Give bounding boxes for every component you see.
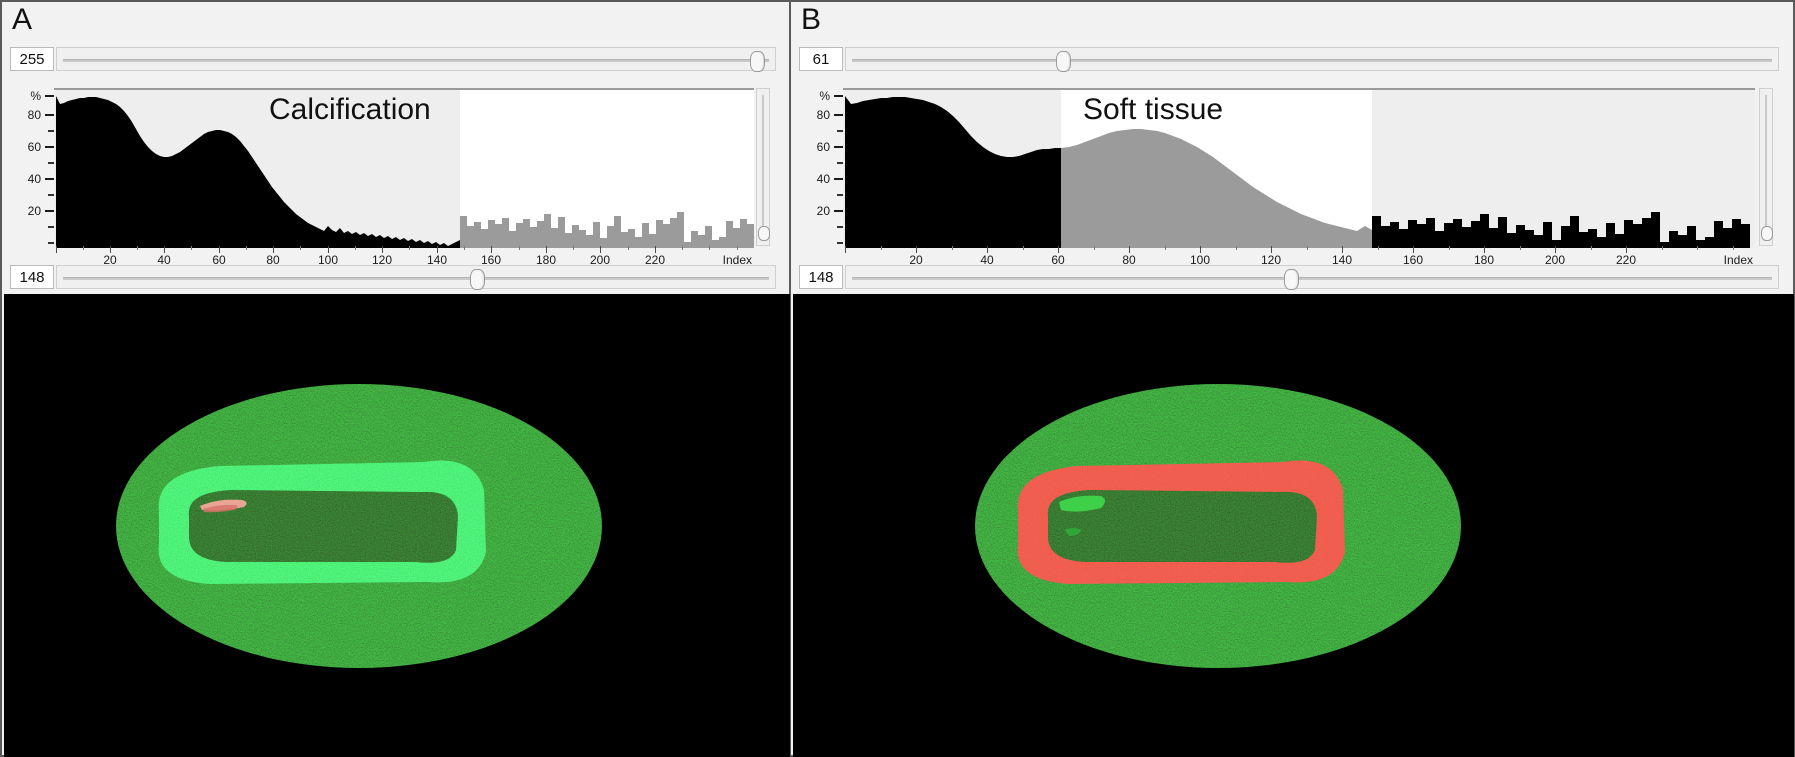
- panel-b-lower-slider-track[interactable]: [845, 265, 1779, 289]
- panel-b-upper-slider-knob[interactable]: [1056, 51, 1071, 72]
- panel-a-x-tick-minor: [628, 246, 629, 250]
- panel-b-x-tick-minor: [1023, 246, 1024, 250]
- panel-a-lower-slider-line: [63, 277, 769, 280]
- panel-a-x-tick-minor: [573, 246, 574, 250]
- panel-b-x-tick-minor: [881, 246, 882, 250]
- panel-a-x-tick-minor: [191, 246, 192, 250]
- panel-b-y-tick: [834, 210, 843, 212]
- panel-a-y-tick: [45, 178, 54, 180]
- panel-a-x-tick: [546, 246, 547, 253]
- panel-a-letter: A: [12, 4, 32, 36]
- panel-b-x-tick: [1626, 246, 1627, 253]
- panel-a-x-tick: [437, 246, 438, 253]
- panel-a-y-axis: % 80 60 40 20: [10, 90, 54, 222]
- panel-b-y-tick: [834, 114, 843, 116]
- panel-a-x-tick: [655, 246, 656, 253]
- panel-a-x-tick-minor: [409, 246, 410, 250]
- panel-b-histogram-plot[interactable]: Soft tissue: [843, 88, 1755, 248]
- panel-a-caption: Calcification: [269, 94, 431, 126]
- panel-b-x-tick-minor: [952, 246, 953, 250]
- panel-b-x-tick-minor: [1591, 246, 1592, 250]
- panel-a-x-tick-minor: [83, 246, 84, 250]
- panel-b-vertical-scrollbar[interactable]: [1759, 88, 1773, 246]
- panel-b-ct-slice: [793, 294, 1794, 757]
- panel-b-upper-slider-track[interactable]: [845, 47, 1779, 71]
- panel-b-x-tick-minor: [1520, 246, 1521, 250]
- panel-a: A 255 % 80 60 40: [0, 0, 790, 757]
- panel-a-vscroll-line: [762, 95, 764, 239]
- panel-a-x-tick-minor: [246, 246, 247, 250]
- panel-b-lower-slider-line: [852, 277, 1772, 280]
- panel-b-histogram: % 80 60 40 20: [799, 76, 1779, 262]
- panel-b-y-label-40: 40: [817, 173, 830, 185]
- panel-a-upper-threshold-slider[interactable]: 255: [10, 46, 776, 72]
- panel-b-x-tick: [916, 246, 917, 253]
- panel-b-x-axis: 20 40 60 80 100 120 140: [843, 246, 1755, 262]
- panel-b-x-tick: [1413, 246, 1414, 253]
- panel-b-upper-threshold-value[interactable]: 61: [799, 47, 843, 71]
- panel-b-x-tick-minor: [1378, 246, 1379, 250]
- panel-a-x-tick: [56, 246, 57, 253]
- panel-a-upper-slider-line: [63, 59, 769, 62]
- panel-b-x-tick: [845, 246, 846, 253]
- panel-a-histogram-plot[interactable]: Calcification: [54, 88, 754, 248]
- panel-b-y-tick: [834, 95, 843, 97]
- panel-a-x-tick: [382, 246, 383, 253]
- panel-b-letter: B: [801, 4, 821, 36]
- panel-a-x-tick: [164, 246, 165, 253]
- panel-a-x-tick-minor: [737, 246, 738, 250]
- panel-b-x-tick: [1200, 246, 1201, 253]
- panel-a-x-tick-minor: [300, 246, 301, 250]
- panel-a-ct-slice: [4, 294, 790, 757]
- panel-b-vscroll-line: [1765, 95, 1767, 239]
- panel-a-vertical-scrollbar[interactable]: [756, 88, 770, 246]
- panel-b: B 61 % 80 60 40 20: [790, 0, 1795, 757]
- panel-a-y-tick: [45, 114, 54, 116]
- panel-a-x-tick: [219, 246, 220, 253]
- panel-b-upper-slider-line: [852, 59, 1772, 62]
- panel-a-y-tick: [45, 146, 54, 148]
- panel-b-x-tick: [1484, 246, 1485, 253]
- panel-b-x-tick-minor: [1094, 246, 1095, 250]
- panel-a-upper-threshold-value[interactable]: 255: [10, 47, 54, 71]
- panel-a-x-tick: [328, 246, 329, 253]
- panel-b-y-tick: [834, 178, 843, 180]
- panel-b-x-tick: [987, 246, 988, 253]
- panel-a-vscroll-knob[interactable]: [758, 226, 770, 241]
- panel-b-lower-slider-knob[interactable]: [1284, 269, 1299, 290]
- panel-a-x-tick: [273, 246, 274, 253]
- panel-a-lower-threshold-value[interactable]: 148: [10, 265, 54, 289]
- panel-a-y-tick: [45, 95, 54, 97]
- panel-a-specimen-image: [4, 294, 790, 757]
- panel-b-lower-threshold-value[interactable]: 148: [799, 265, 843, 289]
- panel-b-y-label-60: 60: [817, 141, 830, 153]
- panel-a-x-tick-minor: [464, 246, 465, 250]
- panel-b-vscroll-knob[interactable]: [1761, 226, 1773, 241]
- panel-a-lower-slider-track[interactable]: [56, 265, 776, 289]
- panel-b-upper-threshold-slider[interactable]: 61: [799, 46, 1779, 72]
- panel-b-x-tick-minor: [1307, 246, 1308, 250]
- panel-a-x-axis: 20 40 60 80 100 120 140: [54, 246, 754, 262]
- panel-b-y-label-20: 20: [817, 205, 830, 217]
- panel-b-x-tick-minor: [1165, 246, 1166, 250]
- figure-root: A 255 % 80 60 40: [0, 0, 1795, 757]
- panel-b-y-unit: %: [819, 90, 830, 102]
- panel-b-x-tick: [1271, 246, 1272, 253]
- panel-b-specimen-image: [793, 294, 1794, 757]
- panel-a-lower-slider-knob[interactable]: [470, 269, 485, 290]
- panel-b-x-tick: [1342, 246, 1343, 253]
- panel-a-upper-slider-track[interactable]: [56, 47, 776, 71]
- panel-b-lower-threshold-slider[interactable]: 148: [799, 264, 1779, 290]
- panel-b-y-tick: [834, 146, 843, 148]
- panel-b-y-axis: % 80 60 40 20: [799, 90, 843, 222]
- panel-b-x-tick-minor: [1662, 246, 1663, 250]
- panel-a-y-label-60: 60: [28, 141, 41, 153]
- panel-b-caption: Soft tissue: [1083, 94, 1223, 126]
- panel-a-y-unit: %: [30, 90, 41, 102]
- panel-b-x-tick: [1058, 246, 1059, 253]
- panel-b-x-tick-minor: [1697, 246, 1698, 250]
- panel-a-x-tick: [600, 246, 601, 253]
- panel-a-x-tick: [110, 246, 111, 253]
- panel-b-x-tick-minor: [1449, 246, 1450, 250]
- panel-a-x-tick: [491, 246, 492, 253]
- panel-a-x-tick-minor: [682, 246, 683, 250]
- panel-a-upper-slider-knob[interactable]: [750, 51, 765, 72]
- panel-b-x-tick-minor: [1733, 246, 1734, 250]
- panel-b-x-tick-minor: [1236, 246, 1237, 250]
- panel-b-x-tick: [1129, 246, 1130, 253]
- panel-a-lower-threshold-slider[interactable]: 148: [10, 264, 776, 290]
- panel-a-y-label-20: 20: [28, 205, 41, 217]
- panel-a-y-label-40: 40: [28, 173, 41, 185]
- panel-b-histogram-svg: [843, 90, 1755, 248]
- panel-a-x-tick-minor: [137, 246, 138, 250]
- panel-a-x-tick-minor: [709, 246, 710, 250]
- panel-a-x-tick-minor: [519, 246, 520, 250]
- panel-a-x-tick-minor: [355, 246, 356, 250]
- panel-a-y-tick: [45, 210, 54, 212]
- panel-a-histogram: % 80 60 40 20: [10, 76, 776, 262]
- panel-b-y-label-80: 80: [817, 109, 830, 121]
- panel-a-y-label-80: 80: [28, 109, 41, 121]
- panel-b-x-tick: [1555, 246, 1556, 253]
